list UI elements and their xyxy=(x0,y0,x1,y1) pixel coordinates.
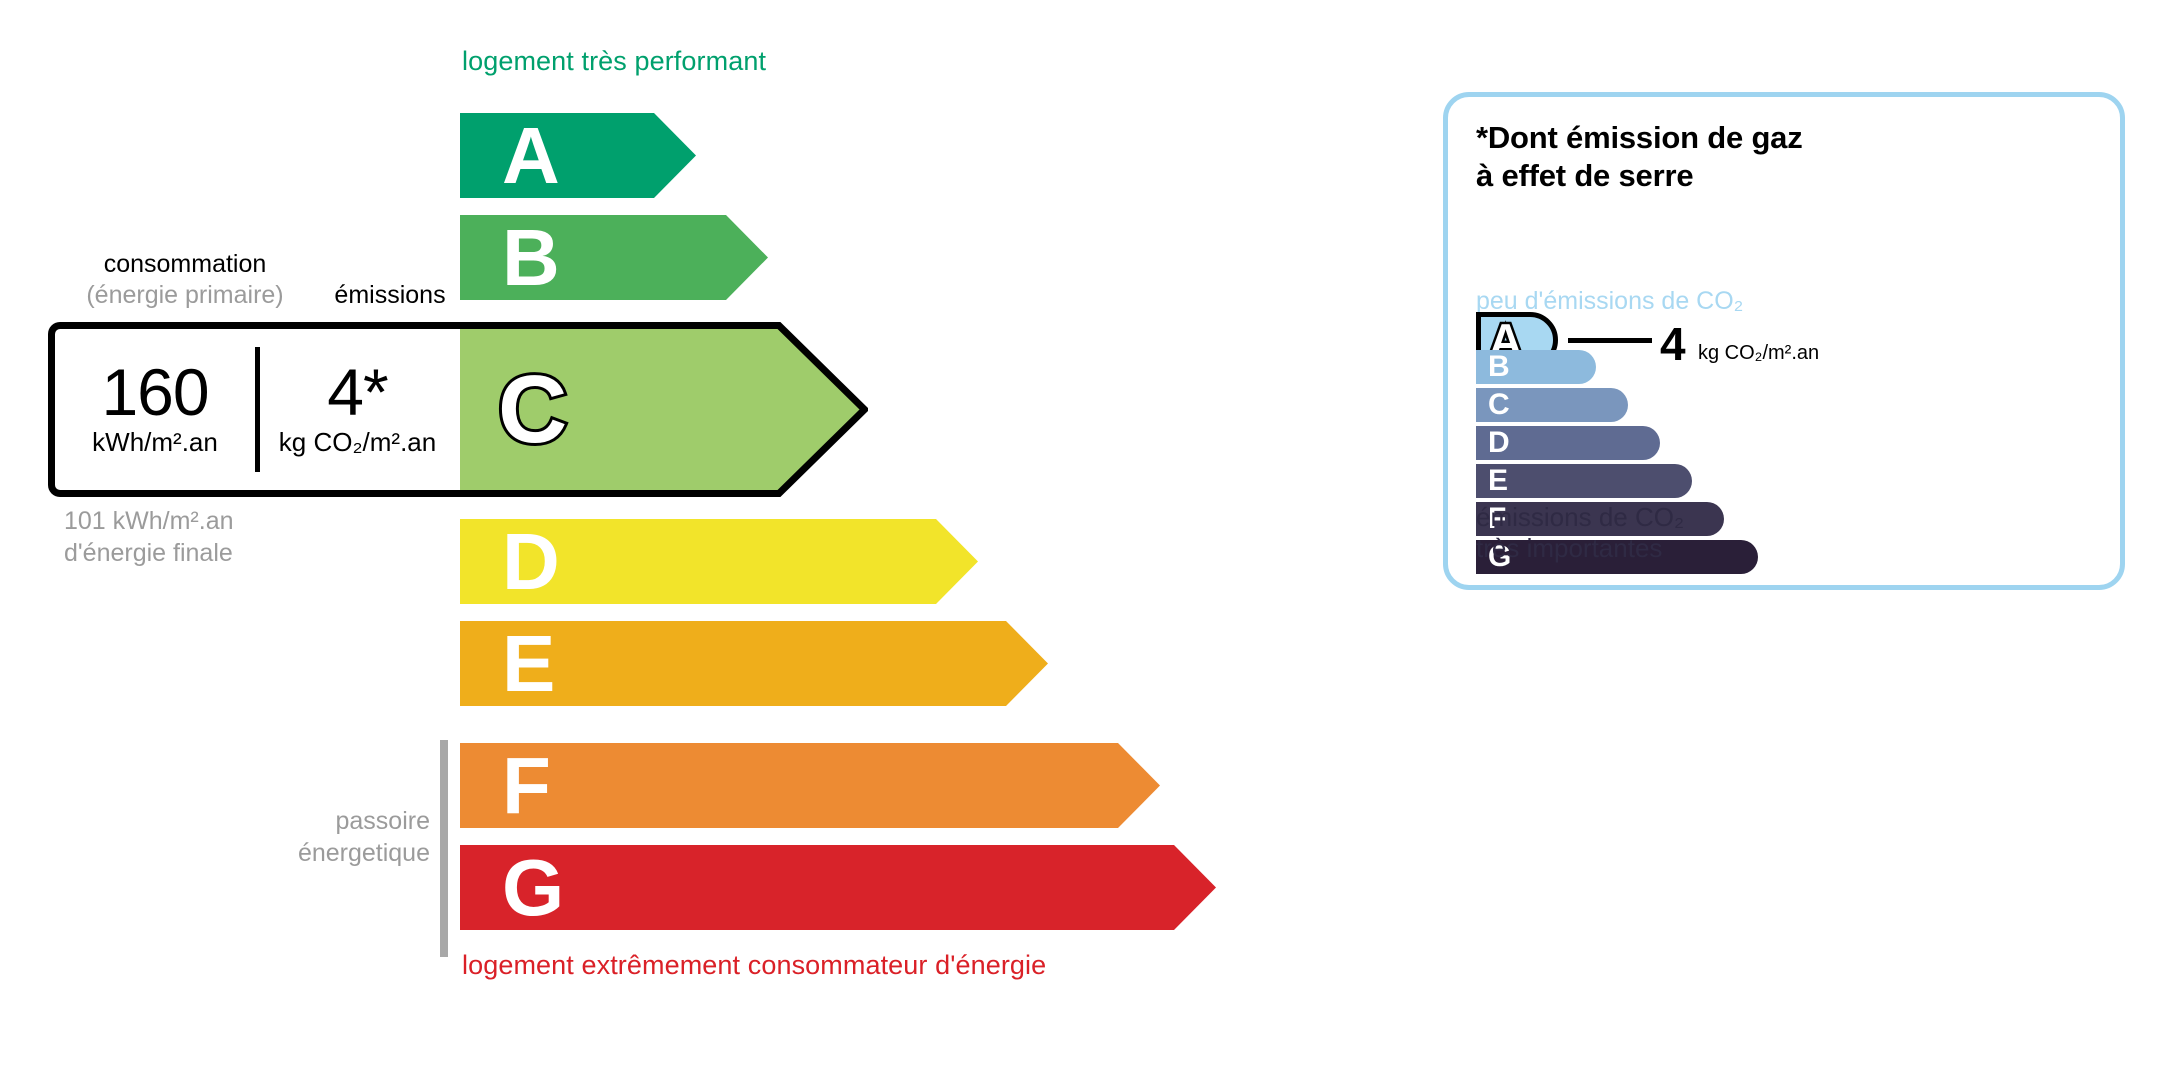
co2-letter-d: D xyxy=(1488,428,1510,458)
primary-energy-unit: kWh/m².an xyxy=(92,427,218,458)
co2-letter-b: B xyxy=(1488,352,1510,382)
arrow-shape-c xyxy=(460,322,868,497)
arrow-shape-b xyxy=(460,215,768,300)
co2-emission-unit: kg CO₂/m².an xyxy=(279,427,436,458)
co2-class-row-b: B xyxy=(1476,350,1596,384)
label-energie-primaire: (énergie primaire) xyxy=(45,281,325,310)
energy-class-row-c: C xyxy=(460,322,868,497)
scale-caption-bottom: logement extrêmement consommateur d'éner… xyxy=(462,950,1046,981)
final-energy-footnote: 101 kWh/m².an d'énergie finale xyxy=(64,505,234,569)
co2-caption-bottom-line1: émissions de CO₂ xyxy=(1476,502,1684,533)
final-energy-footnote-line2: d'énergie finale xyxy=(64,537,234,569)
arrow-shape-d xyxy=(460,519,978,604)
energy-class-row-d: D xyxy=(460,519,978,604)
co2-class-row-d: D xyxy=(1476,426,1660,460)
dpe-diagram: logement très performant consommation (é… xyxy=(0,0,2169,1079)
co2-caption-bottom-line2: très importantes xyxy=(1476,533,1684,564)
label-emissions: émissions xyxy=(300,281,480,310)
energy-consumption-scale: logement très performant consommation (é… xyxy=(0,0,1400,1079)
energy-class-row-f: F xyxy=(460,743,1160,828)
co2-emissions-panel: *Dont émission de gaz à effet de serre p… xyxy=(1443,92,2125,590)
passoire-note-line1: passoire xyxy=(250,805,430,837)
co2-value-cell: 4* kg CO₂/m².an xyxy=(255,329,460,490)
co2-bar-e xyxy=(1476,464,1692,498)
co2-panel-title-line2: à effet de serre xyxy=(1476,157,1803,195)
primary-energy-value: 160 xyxy=(101,361,208,424)
passoire-note: passoire énergetique xyxy=(250,805,430,869)
value-box: 160 kWh/m².an 4* kg CO₂/m².an xyxy=(48,322,460,497)
co2-class-row-c: C xyxy=(1476,388,1628,422)
passoire-rule xyxy=(440,740,448,957)
arrow-shape-e xyxy=(460,621,1048,706)
co2-selected-value: 4 xyxy=(1660,321,1686,367)
energy-class-row-g: G xyxy=(460,845,1216,930)
scale-caption-top: logement très performant xyxy=(462,46,766,77)
co2-panel-title-line1: *Dont émission de gaz xyxy=(1476,119,1803,157)
arrow-shape-g xyxy=(460,845,1216,930)
co2-connector-line xyxy=(1568,338,1652,343)
passoire-note-line2: énergetique xyxy=(250,837,430,869)
co2-panel-title: *Dont émission de gaz à effet de serre xyxy=(1476,119,1803,195)
co2-letter-e: E xyxy=(1488,466,1508,496)
co2-caption-bottom: émissions de CO₂ très importantes xyxy=(1476,502,1684,564)
co2-emission-value: 4* xyxy=(327,361,387,424)
arrow-shape-f xyxy=(460,743,1160,828)
final-energy-footnote-line1: 101 kWh/m².an xyxy=(64,505,234,537)
co2-class-row-e: E xyxy=(1476,464,1692,498)
co2-selected-unit: kg CO₂/m².an xyxy=(1698,342,1819,365)
energy-class-row-a: A xyxy=(460,113,696,198)
arrow-shape-a xyxy=(460,113,696,198)
primary-energy-cell: 160 kWh/m².an xyxy=(55,329,255,490)
energy-class-row-e: E xyxy=(460,621,1048,706)
co2-letter-c: C xyxy=(1488,390,1510,420)
energy-class-row-b: B xyxy=(460,215,768,300)
label-consommation: consommation xyxy=(70,250,300,279)
